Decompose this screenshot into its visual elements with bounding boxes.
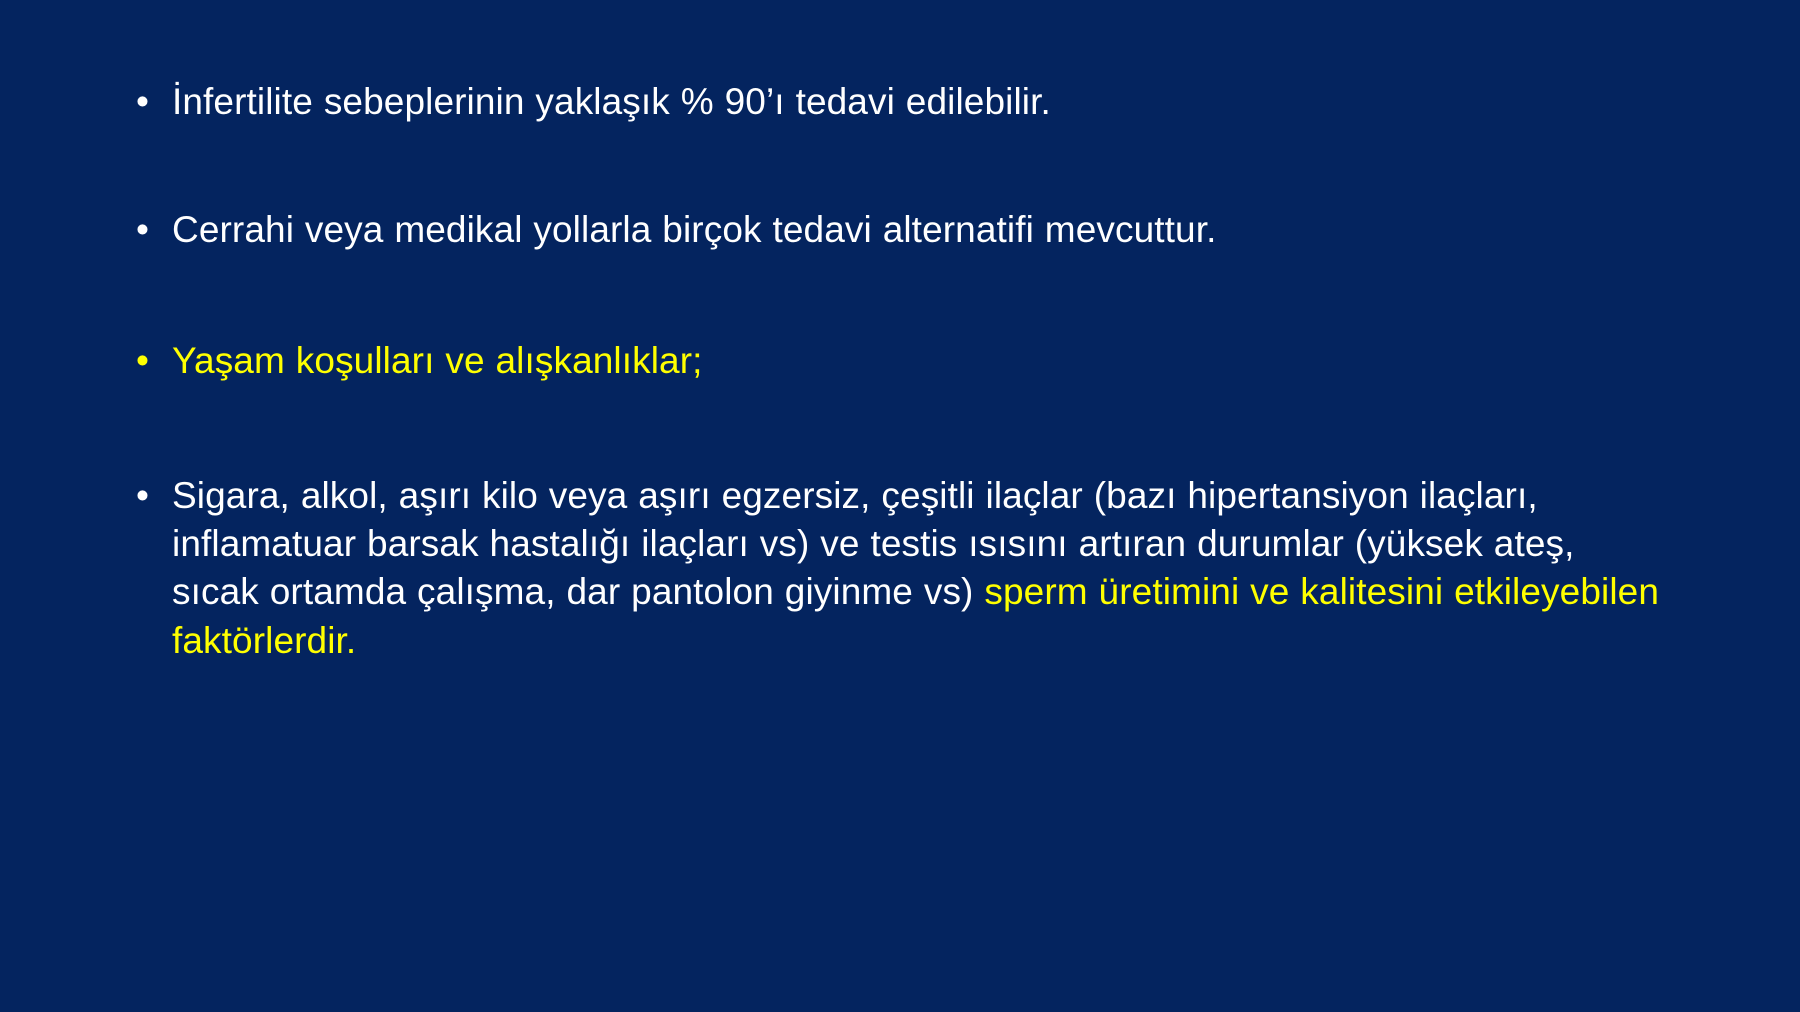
bullet-list-item-2: • Cerrahi veya medikal yollarla birçok t… bbox=[130, 206, 1660, 254]
bullet-point-icon: • bbox=[136, 337, 149, 385]
slide-content-placeholder: • İnfertilite sebeplerinin yaklaşık % 90… bbox=[130, 78, 1660, 702]
bullet-text-1: İnfertilite sebeplerinin yaklaşık % 90’ı… bbox=[172, 81, 1051, 122]
bullet-list-item-4: • Sigara, alkol, aşırı kilo veya aşırı e… bbox=[130, 472, 1660, 664]
bullet-point-icon: • bbox=[136, 206, 149, 254]
bullet-point-icon: • bbox=[136, 78, 149, 126]
slide-canvas: • İnfertilite sebeplerinin yaklaşık % 90… bbox=[0, 0, 1800, 1012]
bullet-list-item-3: • Yaşam koşulları ve alışkanlıklar; bbox=[130, 337, 1660, 385]
bullet-text-3: Yaşam koşulları ve alışkanlıklar; bbox=[172, 340, 703, 381]
bullet-text-2: Cerrahi veya medikal yollarla birçok ted… bbox=[172, 209, 1216, 250]
bullet-point-icon: • bbox=[136, 472, 149, 520]
bullet-list-item-1: • İnfertilite sebeplerinin yaklaşık % 90… bbox=[130, 78, 1660, 126]
